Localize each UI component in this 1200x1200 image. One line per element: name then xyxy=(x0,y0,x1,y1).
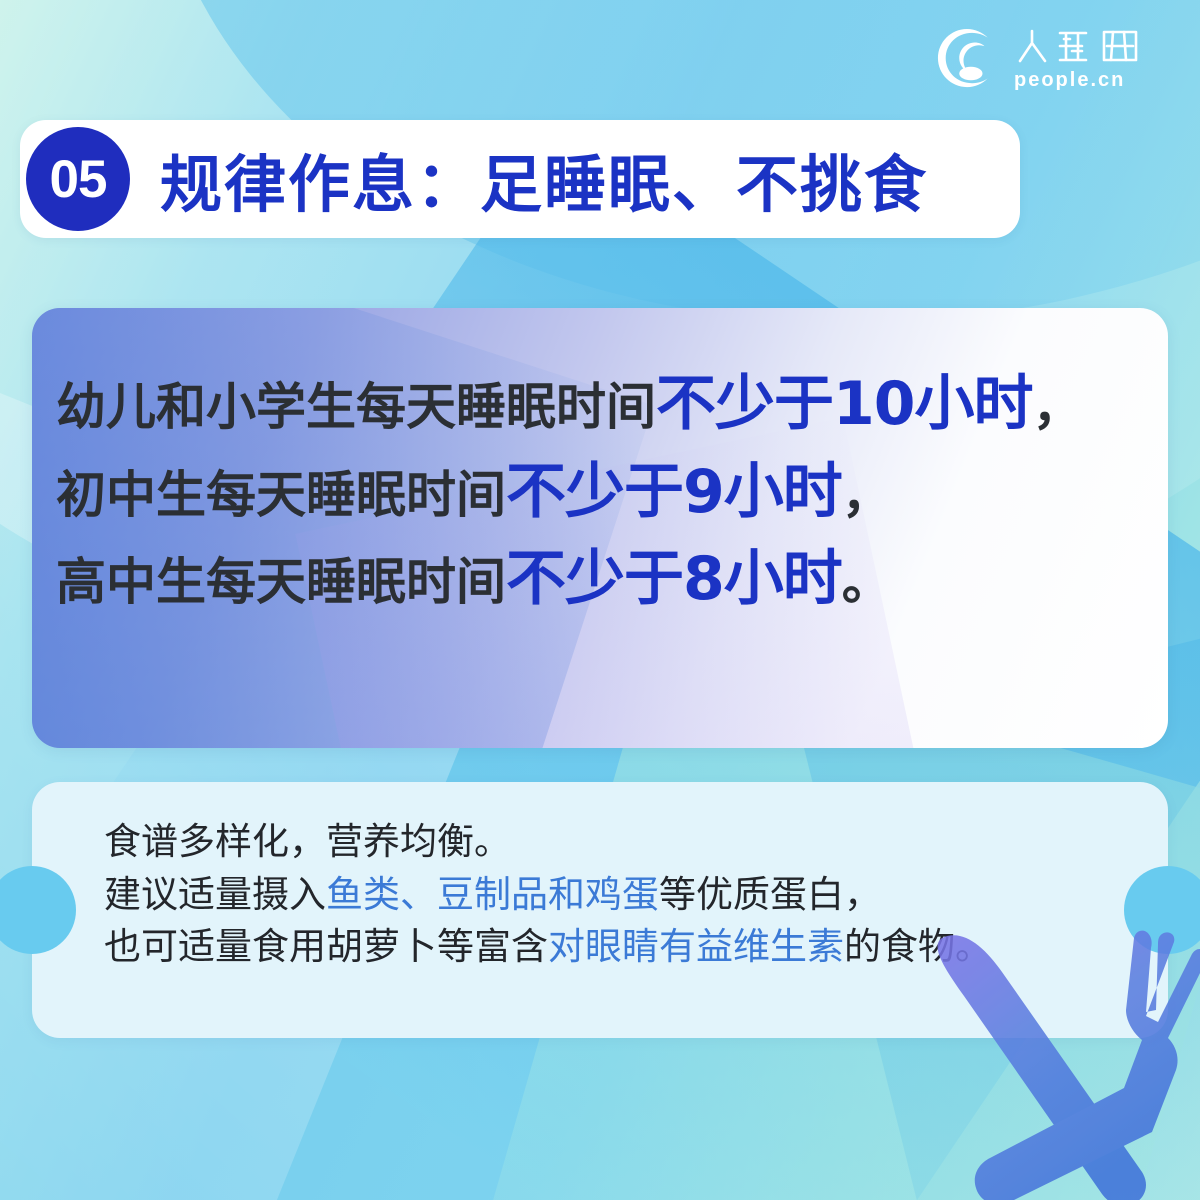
people-cn-crescent-logo-icon xyxy=(936,27,998,89)
sleep-line-3-prefix: 高中生每天睡眠时间 xyxy=(56,553,506,611)
page-title: 规律作息：足睡眠、不挑食 xyxy=(160,134,928,224)
header-pill: 05 规律作息：足睡眠、不挑食 xyxy=(20,120,1020,238)
nutrition-line-3-part1: 也可适量食用胡萝卜等富含 xyxy=(104,925,548,968)
nutrition-line-2-part1: 建议适量摄入 xyxy=(104,873,326,916)
sleep-line-2-suffix: ， xyxy=(842,466,892,524)
sleep-line-3-suffix: 。 xyxy=(842,553,892,611)
sleep-line-3-highlight: 不少于8小时 xyxy=(506,544,842,614)
poster-canvas: people.cn 05 规律作息：足睡眠、不挑食 幼儿和小学生每天睡眠时间不少… xyxy=(0,0,1200,1200)
nutrition-line-1-part1: 食谱多样化，营养均衡。 xyxy=(104,820,511,863)
brand-logo: people.cn xyxy=(936,26,1164,90)
sleep-line-2: 初中生每天睡眠时间不少于9小时， xyxy=(56,458,1168,528)
brand-name-cn-icon xyxy=(1012,26,1164,66)
knife-and-fork-icon xyxy=(910,920,1200,1200)
nutrition-line-2-emphasis: 鱼类、豆制品和鸡蛋 xyxy=(326,873,659,916)
sleep-line-3: 高中生每天睡眠时间不少于8小时。 xyxy=(56,545,1168,615)
sleep-line-1-suffix: ， xyxy=(1033,378,1083,436)
step-number-badge: 05 xyxy=(26,127,130,231)
nutrition-line-3-emphasis: 对眼睛有益维生素 xyxy=(548,925,844,968)
sleep-duration-card: 幼儿和小学生每天睡眠时间不少于10小时， 初中生每天睡眠时间不少于9小时， 高中… xyxy=(32,308,1168,748)
sleep-duration-lines: 幼儿和小学生每天睡眠时间不少于10小时， 初中生每天睡眠时间不少于9小时， 高中… xyxy=(32,308,1168,615)
sleep-line-1-highlight: 不少于10小时 xyxy=(656,369,1033,439)
nutrition-line-2: 建议适量摄入鱼类、豆制品和鸡蛋等优质蛋白， xyxy=(104,869,1168,922)
sleep-line-2-highlight: 不少于9小时 xyxy=(506,457,842,527)
sleep-line-1: 幼儿和小学生每天睡眠时间不少于10小时， xyxy=(56,370,1168,440)
brand-name-latin: people.cn xyxy=(1014,70,1125,90)
brand-wordmark: people.cn xyxy=(1012,26,1164,90)
nutrition-line-2-part2: 等优质蛋白， xyxy=(659,873,881,916)
sleep-line-2-prefix: 初中生每天睡眠时间 xyxy=(56,466,506,524)
nutrition-line-1: 食谱多样化，营养均衡。 xyxy=(104,816,1168,869)
sleep-line-1-prefix: 幼儿和小学生每天睡眠时间 xyxy=(56,378,656,436)
